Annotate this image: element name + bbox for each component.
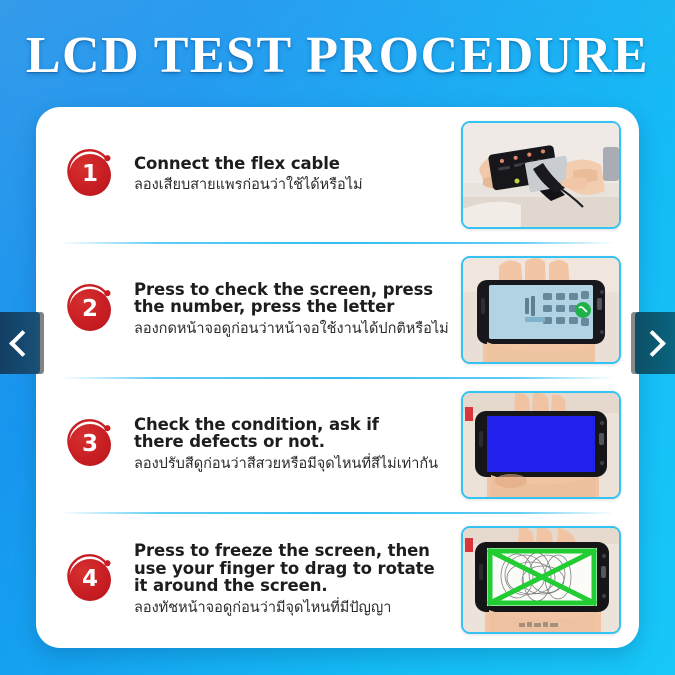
chevron-right-icon	[639, 330, 666, 357]
step-title-en-4: Press to freeze the screen, then use you…	[134, 542, 453, 594]
step-number-badge-1: 1	[62, 147, 118, 203]
lcd-test-procedure-poster: LCD TEST PROCEDURE 1 Connect the flex ca…	[0, 0, 675, 675]
step-text-2: Press to check the screen, press the num…	[134, 281, 461, 338]
step-number-4: 4	[69, 559, 111, 601]
step-title-en-1: Connect the flex cable	[134, 155, 453, 172]
step-title-th-2: ลองกดหน้าจอดูก่อนว่าหน้าจอใช้งานได้ปกติห…	[134, 321, 453, 338]
page-title: LCD TEST PROCEDURE	[0, 26, 675, 85]
step-number-3: 3	[69, 424, 111, 466]
step-title-en-3: Check the condition, ask if there defect…	[134, 416, 453, 451]
carousel-prev-button[interactable]	[0, 312, 40, 374]
step-number-1: 1	[69, 154, 111, 196]
step-number-badge-4: 4	[62, 552, 118, 608]
step-number-2: 2	[69, 289, 111, 331]
photo-dialer-keypad-test	[461, 256, 621, 364]
photo-touch-drag-test	[461, 526, 621, 634]
step-title-th-1: ลองเสียบสายแพรก่อนว่าใช้ได้หรือไม่	[134, 177, 453, 194]
step-row-3: 3 Check the condition, ask if there defe…	[36, 377, 639, 512]
step-row-1: 1 Connect the flex cable ลองเสียบสายแพรก…	[36, 107, 639, 242]
step-text-4: Press to freeze the screen, then use you…	[134, 542, 461, 617]
step-row-2: 2 Press to check the screen, press the n…	[36, 242, 639, 377]
chevron-left-icon	[9, 330, 36, 357]
photo-blue-color-test	[461, 391, 621, 499]
step-row-4: 4 Press to freeze the screen, then use y…	[36, 512, 639, 647]
step-number-badge-2: 2	[62, 282, 118, 338]
step-title-th-3: ลองปรับสีดูก่อนว่าสีสวยหรือมีจุดไหนที่สี…	[134, 456, 453, 473]
photo-connect-flex-cable	[461, 121, 621, 229]
step-text-3: Check the condition, ask if there defect…	[134, 416, 461, 473]
step-title-en-2: Press to check the screen, press the num…	[134, 281, 453, 316]
step-title-th-4: ลองทัชหน้าจอดูก่อนว่ามีจุดไหนที่มีปัญญา	[134, 600, 453, 617]
carousel-next-button[interactable]	[635, 312, 675, 374]
steps-card: 1 Connect the flex cable ลองเสียบสายแพรก…	[36, 107, 639, 648]
step-number-badge-3: 3	[62, 417, 118, 473]
step-text-1: Connect the flex cable ลองเสียบสายแพรก่อ…	[134, 155, 461, 195]
